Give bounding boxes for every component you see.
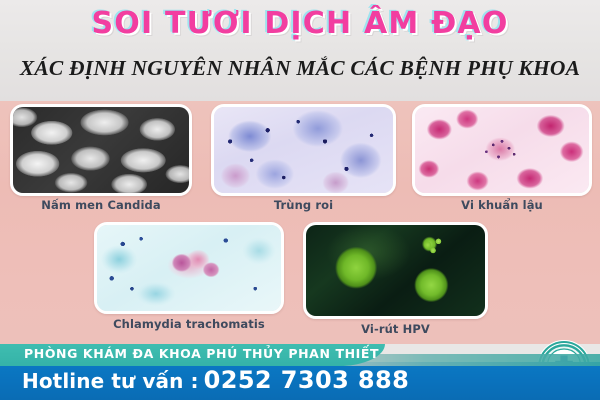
- trichomonas-micrograph: [214, 107, 393, 193]
- page-title: SOI TƯƠI DỊCH ÂM ĐẠO: [0, 6, 600, 41]
- header-band: SOI TƯƠI DỊCH ÂM ĐẠO XÁC ĐỊNH NGUYÊN NHÂ…: [0, 0, 600, 101]
- image-panel-hpv: [303, 222, 488, 319]
- caption-candida: Nấm men Candida: [10, 198, 192, 212]
- image-panel-vi-khuan-lau: [412, 104, 592, 196]
- gonorrhea-bacteria-micrograph: [415, 107, 589, 193]
- poster-root: SOI TƯƠI DỊCH ÂM ĐẠO XÁC ĐỊNH NGUYÊN NHÂ…: [0, 0, 600, 400]
- chlamydia-trachomatis-micrograph: [97, 225, 281, 311]
- caption-chlamydia: Chlamydia trachomatis: [94, 317, 284, 331]
- footer-band: PHÒNG KHÁM ĐA KHOA PHÚ THỦY PHAN THIẾT H…: [0, 344, 600, 400]
- candida-yeast-micrograph: [13, 107, 189, 193]
- hotline-number[interactable]: 0252 7303 888: [204, 366, 410, 394]
- footer-teal-bar: PHÒNG KHÁM ĐA KHOA PHÚ THỦY PHAN THIẾT: [0, 344, 385, 366]
- hotline-block: Hotline tư vấn :0252 7303 888: [22, 366, 409, 394]
- page-subtitle: XÁC ĐỊNH NGUYÊN NHÂN MẮC CÁC BỆNH PHỤ KH…: [0, 56, 600, 81]
- hotline-label: Hotline tư vấn :: [22, 369, 199, 393]
- caption-hpv: Vi-rút HPV: [303, 322, 488, 336]
- image-panel-candida: [10, 104, 192, 196]
- image-panel-chlamydia: [94, 222, 284, 314]
- caption-vi-khuan-lau: Vi khuẩn lậu: [412, 198, 592, 212]
- caption-trung-roi: Trùng roi: [211, 198, 396, 212]
- hpv-virus-3d-render: [306, 225, 485, 316]
- image-panel-trung-roi: [211, 104, 396, 196]
- clinic-name: PHÒNG KHÁM ĐA KHOA PHÚ THỦY PHAN THIẾT: [24, 346, 379, 361]
